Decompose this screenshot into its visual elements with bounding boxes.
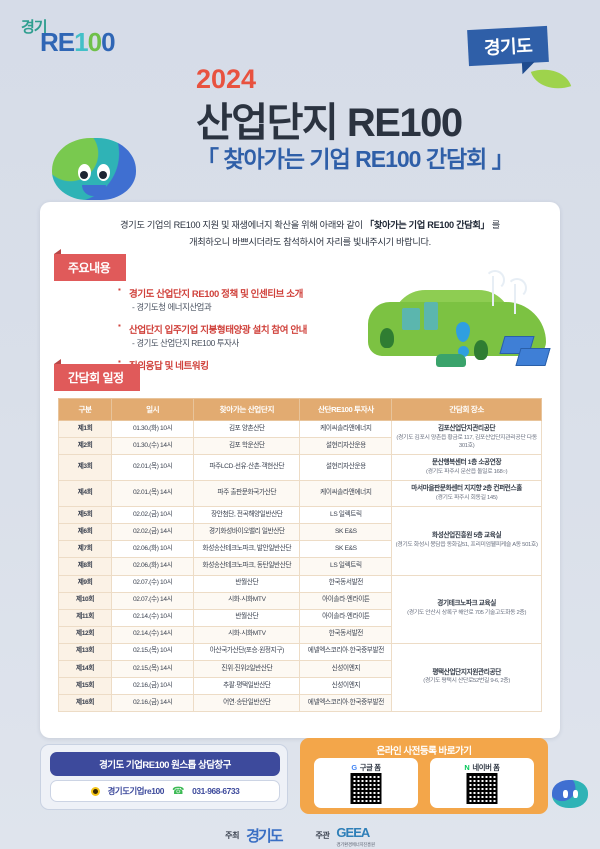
table-row: 제4회02.01.(목) 14시파주 출판문화국가산단케이씨솔라앤에너지마서마을… [59,481,542,507]
registration-title: 온라인 사전등록 바로가기 [300,743,548,757]
qr-code-image-naver[interactable] [467,773,498,804]
cell-complex: 진위·진위2일반산단 [194,660,300,677]
tree-icon [474,340,488,360]
cell-datetime: 02.14.(수) 10시 [112,609,194,626]
th-investor: 산단RE100 투자사 [300,399,392,421]
venue-name: 마서마을판문화센터 지지향 2층 컨퍼런스홀 [393,485,540,494]
credit-host: 주최 경기도 [225,825,281,846]
wind-turbine-icon [514,284,516,314]
cell-investor: 아이솔라·엔라이튼 [300,592,392,609]
table-row: 제5회02.02.(금) 10시장안첨단, 전곡해양일반산단LS 일렉트릭화성산… [59,507,542,524]
cell-session-no: 제4회 [59,481,112,507]
bullet-item: 경기도 산업단지 RE100 정책 및 인센티브 소개 - 경기도청 에너지산업… [118,286,307,313]
registration-panel: 온라인 사전등록 바로가기 G구글 폼 N네이버 폼 [300,738,548,814]
table-header-row: 구분 일시 찾아가는 산업단지 산단RE100 투자사 간담회 장소 [59,399,542,421]
credit-organizer-label: 주관 [316,830,330,841]
cell-session-no: 제3회 [59,455,112,481]
cell-datetime: 02.15.(목) 14시 [112,660,194,677]
cell-datetime: 02.01.(목) 14시 [112,481,194,507]
cell-venue: 경기테크노파크 교육실(경기도 안산시 상록구 해안로 705 기술고도화동 2… [392,575,542,643]
phone-icon: ☎ [172,786,184,797]
cell-venue: 화성산업진흥원 5층 교육실(경기도 화성시 봉담읍 동화길51, 프리미엄웰피… [392,507,542,575]
cell-complex: 화성송산테크노파크, 발안일반산단 [194,541,300,558]
consultation-contacts: 경기도기업re100 ☎ 031-968-6733 [50,780,280,802]
cell-session-no: 제6회 [59,524,112,541]
credit-organizer: 주관 GEEA 경기환경에너지진흥원 [316,824,375,848]
venue-address: (경기도 화성시 봉담읍 동화길51, 프리미엄웰피케슬 A동 501호) [393,542,540,550]
cell-investor: 한국동서발전 [300,626,392,643]
cell-session-no: 제15회 [59,678,112,695]
eco-illustration [362,262,552,382]
wind-turbine-icon [492,276,494,306]
venue-name: 문산행복센터 1층 소공연장 [393,459,540,468]
ev-car-icon [436,354,466,367]
cell-investor: 에넬엑스코리아·한국중부발전 [300,695,392,712]
mascot-pupil-right [99,171,107,179]
province-badge: 경기도 [467,26,549,66]
cell-datetime: 02.02.(금) 14시 [112,524,194,541]
venue-address: (경기도 평택시 산단로52번길 9-6, 2층) [393,678,540,686]
cell-session-no: 제12회 [59,626,112,643]
cell-complex: 추팔·평택일반산단 [194,678,300,695]
leaf-icon [531,61,571,96]
cell-session-no: 제9회 [59,575,112,592]
table-row: 제3회02.01.(목) 10시파주LCD·선유·산촌·객현산단설현리자산운용문… [59,455,542,481]
tree-icon [380,328,394,348]
qr-naver-label: N네이버 폼 [430,762,534,773]
geea-logo: GEEA 경기환경에너지진흥원 [336,824,374,848]
cell-complex: 어연·송탄일반산단 [194,695,300,712]
cell-complex: 시화·시화MTV [194,626,300,643]
cell-session-no: 제16회 [59,695,112,712]
table-row: 제1회01.30.(화) 10시김포 양촌산단케이씨솔라앤에너지김포산업단지관리… [59,421,542,438]
cell-datetime: 01.30.(수) 14시 [112,438,194,455]
cell-investor: SK E&S [300,524,392,541]
cell-datetime: 02.06.(화) 10시 [112,541,194,558]
qr-google-form[interactable]: G구글 폼 [314,758,418,808]
kakao-icon [91,787,100,796]
schedule-table: 구분 일시 찾아가는 산업단지 산단RE100 투자사 간담회 장소 제1회01… [58,398,542,712]
cell-investor: 한국동서발전 [300,575,392,592]
cell-investor: 설현리자산운용 [300,438,392,455]
cell-complex: 아산국가산단(포승·원정지구) [194,643,300,660]
cell-investor: 신성이엔지 [300,660,392,677]
venue-address: (경기도 파주시 회동길 145) [393,495,540,503]
cell-complex: 파주 출판문화국가산단 [194,481,300,507]
venue-name: 김포산업단지관리공단 [393,425,540,434]
cell-datetime: 02.07.(수) 10시 [112,575,194,592]
cell-complex: 반월산단 [194,575,300,592]
cell-session-no: 제11회 [59,609,112,626]
qr-google-label: G구글 폼 [314,762,418,773]
cell-investor: 신성이엔지 [300,678,392,695]
cell-venue: 김포산업단지관리공단(경기도 김포시 양촌읍 황금로 117, 김포산업단지관리… [392,421,542,455]
cell-investor: LS 일렉트릭 [300,558,392,575]
reico-logo: 경기 RE100 [18,16,148,66]
cell-venue: 마서마을판문화센터 지지향 2층 컨퍼런스홀(경기도 파주시 회동길 145) [392,481,542,507]
table-row: 제9회02.07.(수) 10시반월산단한국동서발전경기테크노파크 교육실(경기… [59,575,542,592]
cell-session-no: 제13회 [59,643,112,660]
gyeonggi-province-logo: 경기도 [246,825,281,846]
cell-session-no: 제14회 [59,660,112,677]
cell-session-no: 제10회 [59,592,112,609]
cell-session-no: 제8회 [59,558,112,575]
section-tab-main-content: 주요내용 [54,254,126,281]
illus-building [424,302,438,330]
cell-investor: 설현리자산운용 [300,455,392,481]
th-no: 구분 [59,399,112,421]
cell-datetime: 01.30.(화) 10시 [112,421,194,438]
cell-complex: 김포 양촌산단 [194,421,300,438]
cell-datetime: 02.01.(목) 10시 [112,455,194,481]
venue-name: 화성산업진흥원 5층 교육실 [393,532,540,541]
cell-session-no: 제2회 [59,438,112,455]
th-complex: 찾아가는 산업단지 [194,399,300,421]
venue-name: 평택산업단지지원관리공단 [393,669,540,678]
credit-host-label: 주최 [225,830,239,841]
poster-root: 경기 RE100 경기도 2024 산업단지 RE100 「 찾아가는 기업 R… [0,0,600,849]
cell-venue: 평택산업단지지원관리공단(경기도 평택시 산단로52번길 9-6, 2층) [392,643,542,711]
cell-datetime: 02.02.(금) 10시 [112,507,194,524]
cell-investor: 케이씨솔라앤에너지 [300,421,392,438]
cell-session-no: 제1회 [59,421,112,438]
cell-datetime: 02.06.(화) 14시 [112,558,194,575]
cell-complex: 김포 학운산단 [194,438,300,455]
cell-session-no: 제5회 [59,507,112,524]
venue-name: 경기테크노파크 교육실 [393,600,540,609]
google-icon: G [351,763,356,772]
solar-panel-icon [515,348,550,366]
qr-naver-form[interactable]: N네이버 폼 [430,758,534,808]
cell-complex: 장안첨단, 전곡해양일반산단 [194,507,300,524]
earth-mascot-small [552,780,588,808]
cell-complex: 화성송산테크노파크, 동탄일반산단 [194,558,300,575]
cell-session-no: 제7회 [59,541,112,558]
logo-re100-text: RE100 [40,29,115,55]
venue-address: (경기도 파주시 문산읍 돌일로 168○) [393,469,540,477]
venue-address: (경기도 안산시 상록구 해안로 705 기술고도화동 2층) [393,610,540,618]
cell-complex: 파주LCD·선유·산촌·객현산단 [194,455,300,481]
credits-bar: 주최 경기도 주관 GEEA 경기환경에너지진흥원 [0,822,600,849]
mascot2-eye-right [573,790,578,798]
cell-venue: 문산행복센터 1층 소공연장(경기도 파주시 문산읍 돌일로 168○) [392,455,542,481]
th-venue: 간담회 장소 [392,399,542,421]
cell-investor: 케이씨솔라앤에너지 [300,481,392,507]
main-content-bullets: 경기도 산업단지 RE100 정책 및 인센티브 소개 - 경기도청 에너지산업… [118,286,307,381]
page-subtitle: 「 찾아가는 기업 RE100 간담회 」 [196,140,514,174]
table-row: 제13회02.15.(목) 10시아산국가산단(포승·원정지구)에넬엑스코리아·… [59,643,542,660]
th-datetime: 일시 [112,399,194,421]
mascot-pupil-left [80,171,88,179]
cell-investor: 에넬엑스코리아·한국중부발전 [300,643,392,660]
intro-paragraph: 경기도 기업의 RE100 지원 및 재생에너지 확산을 위해 아래와 같이 「… [86,217,534,251]
cell-datetime: 02.16.(금) 10시 [112,678,194,695]
phone-number[interactable]: 031-968-6733 [192,786,239,796]
qr-code-image-google[interactable] [351,773,382,804]
consultation-title: 경기도 기업RE100 원스톱 상담창구 [50,752,280,776]
bullet-item: 산업단지 입주기업 지붕형태양광 설치 참여 안내 - 경기도 산업단지 RE1… [118,322,307,349]
kakao-channel-label[interactable]: 경기도기업re100 [108,785,164,797]
cell-investor: SK E&S [300,541,392,558]
illus-building [402,308,420,330]
venue-address: (경기도 김포시 양촌읍 황금로 117, 김포산업단지관리공단 다동 301호… [393,435,540,451]
mascot2-eye-left [563,790,568,798]
consultation-panel: 경기도 기업RE100 원스톱 상담창구 경기도기업re100 ☎ 031-96… [40,744,288,810]
cell-datetime: 02.14.(수) 14시 [112,626,194,643]
cell-investor: 아이솔라·엔라이튼 [300,609,392,626]
content-card: 경기도 기업의 RE100 지원 및 재생에너지 확산을 위해 아래와 같이 「… [40,202,560,738]
cell-datetime: 02.16.(금) 14시 [112,695,194,712]
cell-datetime: 02.07.(수) 14시 [112,592,194,609]
section-tab-schedule: 간담회 일정 [54,364,140,391]
cell-complex: 반월산단 [194,609,300,626]
naver-icon: N [464,763,469,772]
cell-datetime: 02.15.(목) 10시 [112,643,194,660]
bullet-item: 질의응답 및 네트워킹 [118,358,307,372]
cell-complex: 시화·시화MTV [194,592,300,609]
cell-complex: 경기화성바이오밸리 일반산단 [194,524,300,541]
cell-investor: LS 일렉트릭 [300,507,392,524]
